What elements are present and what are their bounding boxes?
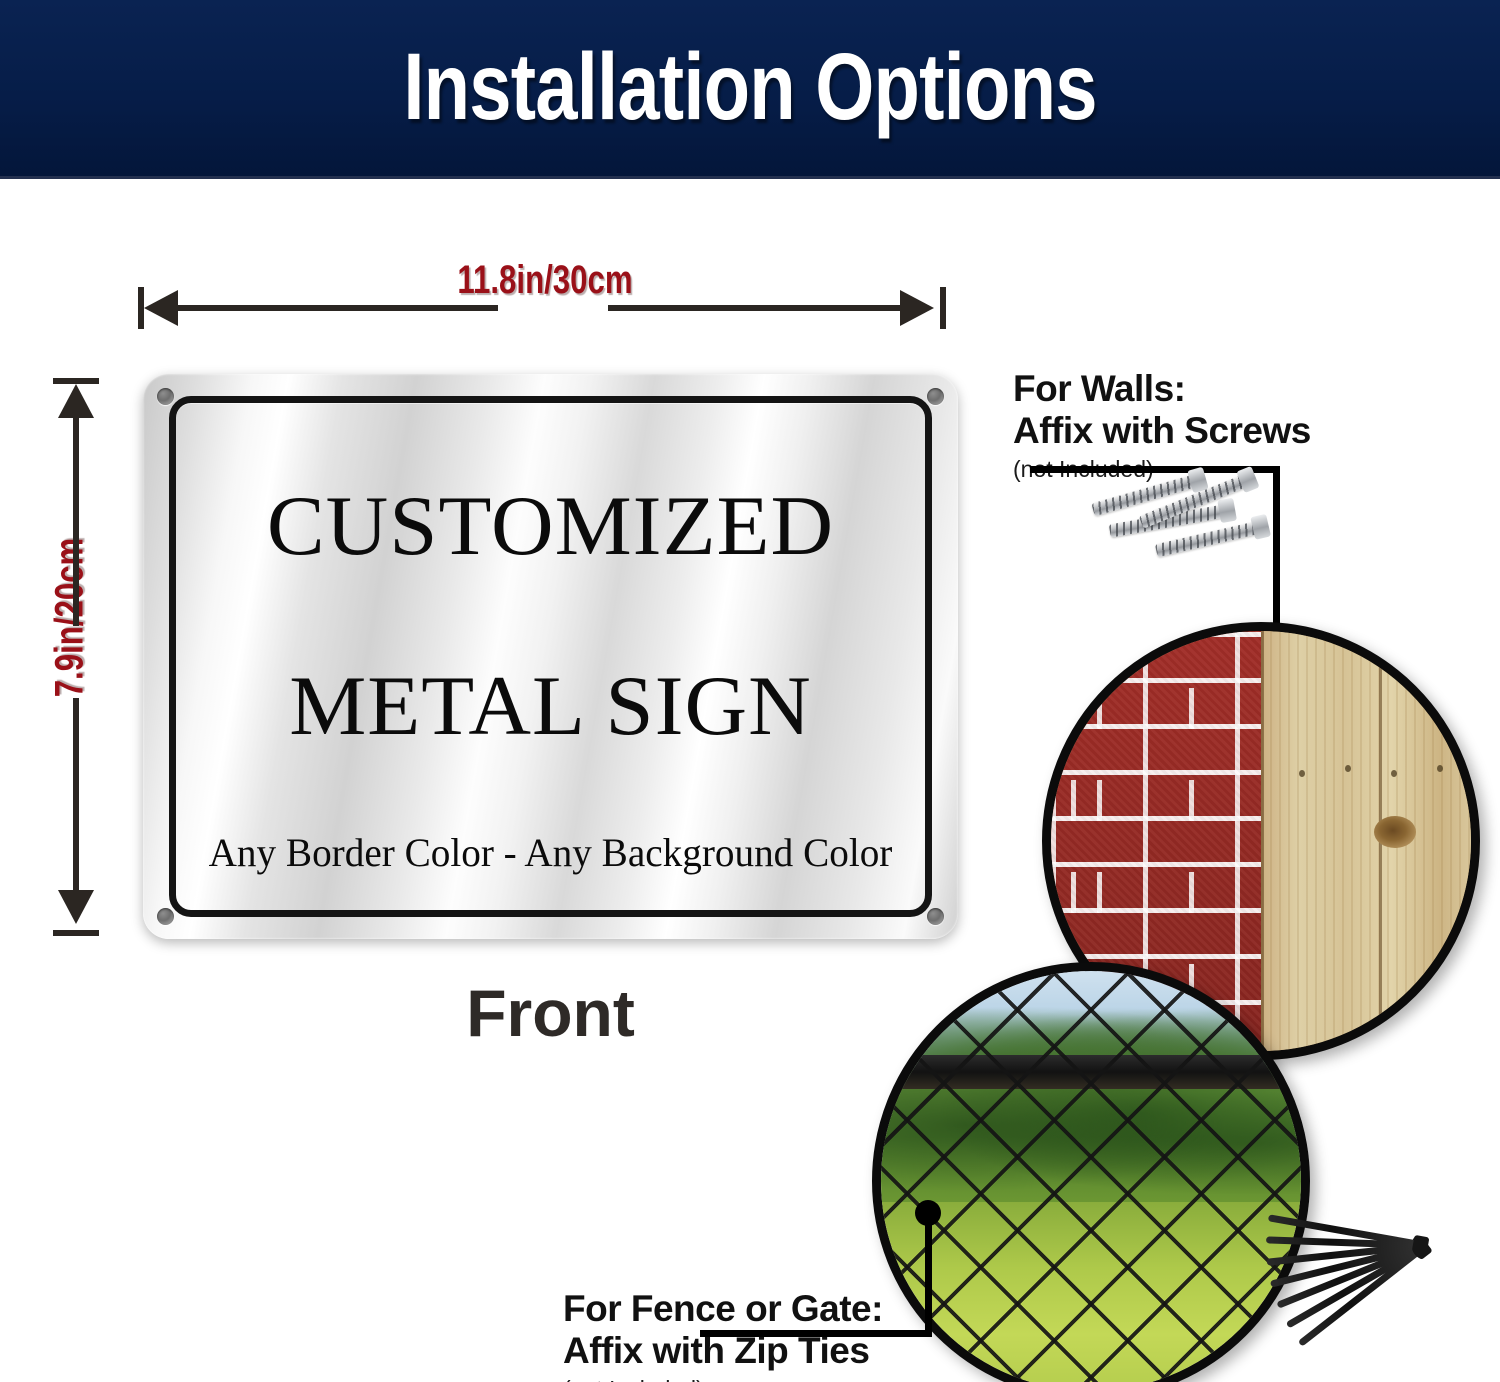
width-arrow-right-head xyxy=(900,290,934,326)
width-arrow-right-tick xyxy=(940,287,946,329)
page-title: Installation Options xyxy=(150,40,1350,135)
callout-walls-line2: Affix with Screws xyxy=(1013,410,1311,452)
height-arrow-bottom-bar xyxy=(73,698,79,914)
wood-knot xyxy=(1374,816,1416,848)
height-dimension-arrow xyxy=(73,378,79,936)
zip-ties-icon xyxy=(1258,1186,1438,1306)
sign-face: CUSTOMIZED METAL SIGN Any Border Color -… xyxy=(143,374,958,939)
mounting-hole-icon xyxy=(927,908,944,925)
sign-headline-line1: CUSTOMIZED xyxy=(135,477,966,575)
height-arrow-top-bar xyxy=(73,396,79,626)
plank-nail-hole xyxy=(1391,770,1397,777)
width-dimension-label: 11.8in/30cm xyxy=(120,258,970,303)
callout-walls-line1: For Walls: xyxy=(1013,368,1311,410)
width-arrow-left-bar xyxy=(158,305,498,311)
infographic-canvas: Installation Options 11.8in/30cm 7.9in/2… xyxy=(0,0,1500,1382)
fence-leader-line-horizontal xyxy=(700,1330,932,1337)
height-dimension-label: 7.9in/20cm xyxy=(48,508,93,726)
metal-sign-product: CUSTOMIZED METAL SIGN Any Border Color -… xyxy=(143,374,958,939)
callout-fence-note: (not Included) xyxy=(563,1372,883,1382)
fence-leader-dot xyxy=(915,1200,941,1226)
sign-subtitle: Any Border Color - Any Background Color xyxy=(151,829,950,876)
screws-icon xyxy=(1085,470,1275,580)
width-dimension-arrow xyxy=(138,305,946,311)
mounting-hole-icon xyxy=(927,388,944,405)
height-arrow-bottom-tick xyxy=(53,930,99,936)
plank-nail-hole xyxy=(1437,765,1443,772)
width-arrow-right-bar xyxy=(608,305,926,311)
fence-leader-line-vertical xyxy=(925,1212,932,1337)
chain-link-mesh xyxy=(881,971,1301,1382)
header-banner: Installation Options xyxy=(0,0,1500,179)
callout-fence-line1: For Fence or Gate: xyxy=(563,1288,883,1330)
front-caption: Front xyxy=(143,975,958,1051)
chain-link-fence-photo xyxy=(872,962,1310,1382)
plank-nail-hole xyxy=(1345,765,1351,772)
mounting-hole-icon xyxy=(157,388,174,405)
sign-headline-line2: METAL SIGN xyxy=(135,657,966,755)
plank-nail-hole xyxy=(1299,770,1305,777)
mounting-hole-icon xyxy=(157,908,174,925)
height-arrow-bottom-head xyxy=(58,890,94,924)
